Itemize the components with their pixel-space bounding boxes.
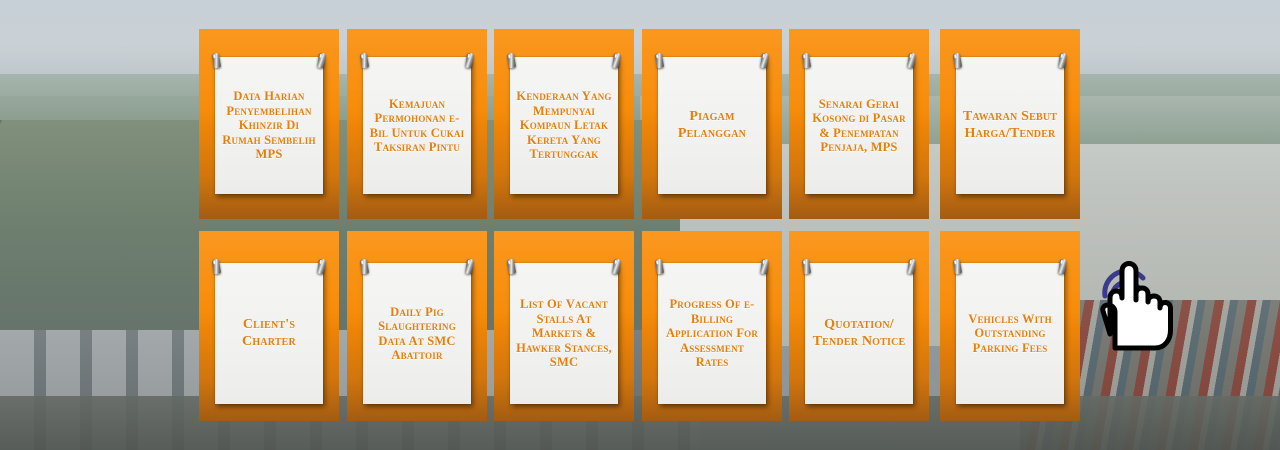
card-title: Quotation/ Tender Notice (810, 317, 908, 349)
quick-link-card[interactable]: Vehicles With Outstanding Parking Fees (940, 231, 1080, 421)
binder-clip-right-icon (1058, 259, 1067, 275)
binder-clip-left-icon (507, 53, 516, 69)
binder-clip-left-icon (802, 259, 811, 275)
card-title: Senarai Gerai Kosong di Pasar & Penempat… (810, 97, 908, 155)
binder-clip-right-icon (907, 53, 916, 69)
card-paper-sheet[interactable]: Vehicles With Outstanding Parking Fees (956, 263, 1064, 404)
card-paper-sheet[interactable]: Kenderaan Yang Mempunyai Kompaun Letak K… (510, 57, 618, 194)
card-paper-sheet[interactable]: Client's Charter (215, 263, 323, 404)
binder-clip-left-icon (507, 259, 516, 275)
card-title: Vehicles With Outstanding Parking Fees (961, 312, 1059, 356)
quick-link-card[interactable]: Quotation/ Tender Notice (789, 231, 929, 421)
pointing-hand-cursor (1085, 252, 1177, 362)
binder-clip-right-icon (317, 53, 326, 69)
binder-clip-left-icon (212, 259, 221, 275)
card-paper-sheet[interactable]: Daily Pig Slaughtering Data At SMC Abatt… (363, 263, 471, 404)
card-paper-sheet[interactable]: List Of Vacant Stalls At Markets & Hawke… (510, 263, 618, 404)
binder-clip-right-icon (907, 259, 916, 275)
binder-clip-left-icon (212, 53, 221, 69)
binder-clip-right-icon (1058, 53, 1067, 69)
quick-link-card[interactable]: List Of Vacant Stalls At Markets & Hawke… (494, 231, 634, 421)
quick-link-card[interactable]: Tawaran Sebut Harga/Tender (940, 29, 1080, 219)
binder-clip-left-icon (802, 53, 811, 69)
card-paper-sheet[interactable]: Data Harian Penyembelihan Khinzir Di Rum… (215, 57, 323, 194)
card-title: Piagam Pelanggan (663, 109, 761, 141)
card-paper-sheet[interactable]: Tawaran Sebut Harga/Tender (956, 57, 1064, 194)
card-title: Client's Charter (220, 317, 318, 349)
card-row-top: Data Harian Penyembelihan Khinzir Di Rum… (199, 29, 1081, 219)
card-title: Daily Pig Slaughtering Data At SMC Abatt… (368, 305, 466, 363)
binder-clip-right-icon (612, 53, 621, 69)
card-title: Kenderaan Yang Mempunyai Kompaun Letak K… (515, 89, 613, 162)
binder-clip-right-icon (760, 259, 769, 275)
binder-clip-left-icon (655, 259, 664, 275)
card-title: Data Harian Penyembelihan Khinzir Di Rum… (220, 89, 318, 162)
quick-link-card[interactable]: Senarai Gerai Kosong di Pasar & Penempat… (789, 29, 929, 219)
card-title: Progress Of e-Billing Application For As… (663, 297, 761, 370)
card-title: Kemajuan Permohonan e-Bil Untuk Cukai Ta… (368, 97, 466, 155)
binder-clip-left-icon (953, 259, 962, 275)
binder-clip-right-icon (465, 259, 474, 275)
quick-link-card[interactable]: Daily Pig Slaughtering Data At SMC Abatt… (347, 231, 487, 421)
card-paper-sheet[interactable]: Quotation/ Tender Notice (805, 263, 913, 404)
quick-link-card[interactable]: Kemajuan Permohonan e-Bil Untuk Cukai Ta… (347, 29, 487, 219)
card-paper-sheet[interactable]: Progress Of e-Billing Application For As… (658, 263, 766, 404)
binder-clip-left-icon (655, 53, 664, 69)
binder-clip-left-icon (360, 53, 369, 69)
binder-clip-right-icon (760, 53, 769, 69)
card-paper-sheet[interactable]: Kemajuan Permohonan e-Bil Untuk Cukai Ta… (363, 57, 471, 194)
quick-link-card[interactable]: Progress Of e-Billing Application For As… (642, 231, 782, 421)
card-title: Tawaran Sebut Harga/Tender (961, 109, 1059, 141)
binder-clip-left-icon (953, 53, 962, 69)
quick-link-card[interactable]: Client's Charter (199, 231, 339, 421)
quick-link-card[interactable]: Data Harian Penyembelihan Khinzir Di Rum… (199, 29, 339, 219)
quick-link-card[interactable]: Kenderaan Yang Mempunyai Kompaun Letak K… (494, 29, 634, 219)
binder-clip-left-icon (360, 259, 369, 275)
binder-clip-right-icon (612, 259, 621, 275)
card-row-bottom: Client's CharterDaily Pig Slaughtering D… (199, 231, 1081, 421)
card-paper-sheet[interactable]: Senarai Gerai Kosong di Pasar & Penempat… (805, 57, 913, 194)
binder-clip-right-icon (317, 259, 326, 275)
card-paper-sheet[interactable]: Piagam Pelanggan (658, 57, 766, 194)
quick-links-grid: Data Harian Penyembelihan Khinzir Di Rum… (199, 29, 1081, 419)
card-title: List Of Vacant Stalls At Markets & Hawke… (515, 297, 613, 370)
binder-clip-right-icon (465, 53, 474, 69)
quick-link-card[interactable]: Piagam Pelanggan (642, 29, 782, 219)
